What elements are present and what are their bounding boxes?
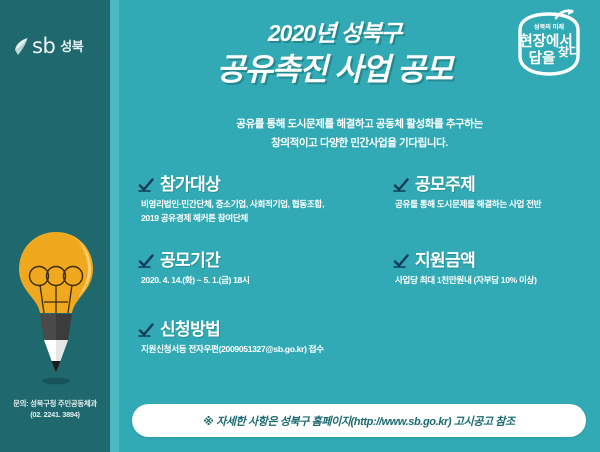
info-item-desc: 비영리법인·민간단체, 중소기업, 사회적기업, 협동조합, 2019 공유경제… <box>138 198 398 226</box>
logo-korean-text: 성북 <box>60 40 83 53</box>
info-item-header: 신청방법 <box>138 321 438 338</box>
info-item-participants: 참가대상 비영리법인·민간단체, 중소기업, 사회적기업, 협동조합, 2019… <box>138 176 398 226</box>
footer-notice-text: ※ 자세한 사항은 성북구 홈페이지(http://www.sb.go.kr) … <box>203 413 514 429</box>
content-grid: 참가대상 비영리법인·민간단체, 중소기업, 사회적기업, 협동조합, 2019… <box>119 176 600 386</box>
footer-notice-banner: ※ 자세한 사항은 성북구 홈페이지(http://www.sb.go.kr) … <box>132 404 586 437</box>
info-item-desc: 사업당 최대 1천만원내 (자부담 10% 이상) <box>385 274 600 288</box>
info-item-header: 참가대상 <box>138 176 398 193</box>
info-item-desc: 지원신청서등 전자우편(2009051327@sb.go.kr) 접수 <box>138 343 438 357</box>
seongbuk-emblem-icon <box>14 37 29 56</box>
contact-line-2: (02. 2241. 3894) <box>0 409 110 420</box>
poster-root: sb 성북 문의: 성북구청 주민공 <box>0 0 600 452</box>
info-item-title: 지원금액 <box>415 252 475 269</box>
info-item-funding: 지원금액 사업당 최대 1천만원내 (자부담 10% 이상) <box>385 252 600 288</box>
info-item-header: 공모기간 <box>138 252 388 269</box>
subtitle-line-2: 창의적이고 다양한 민간사업을 기다립니다. <box>119 134 600 153</box>
check-icon <box>393 178 409 192</box>
info-item-title: 공모기간 <box>160 252 220 269</box>
svg-text:답을: 답을 <box>529 49 556 67</box>
check-icon <box>393 254 409 268</box>
lightbulb-pencil-illustration <box>13 228 99 390</box>
subtitle-line-1: 공유를 통해 도시문제를 해결하고 공동체 활성화를 추구하는 <box>119 115 600 134</box>
seongbuk-future-stamp-icon: 성북의 미래 현장에서 답을 찾다 <box>506 8 592 82</box>
logo-sb-text: sb <box>32 36 55 57</box>
check-icon <box>138 254 154 268</box>
info-item-desc: 공유를 통해 도시문제를 해결하는 사업 전반 <box>385 198 600 212</box>
svg-text:성북의 미래: 성북의 미래 <box>534 23 564 31</box>
contact-line-1: 문의: 성북구청 주민공동체과 <box>0 398 110 409</box>
info-item-header: 지원금액 <box>385 252 600 269</box>
info-item-title: 참가대상 <box>160 176 220 193</box>
info-item-title: 신청방법 <box>160 321 220 338</box>
sidebar-accent-stripe <box>110 0 119 452</box>
info-item-application: 신청방법 지원신청서등 전자우편(2009051327@sb.go.kr) 접수 <box>138 321 438 357</box>
check-icon <box>138 323 154 337</box>
subtitle: 공유를 통해 도시문제를 해결하고 공동체 활성화를 추구하는 창의적이고 다양… <box>119 115 600 154</box>
info-item-topic: 공모주제 공유를 통해 도시문제를 해결하는 사업 전반 <box>385 176 600 212</box>
svg-text:찾다: 찾다 <box>558 44 580 59</box>
contact-info: 문의: 성북구청 주민공동체과 (02. 2241. 3894) <box>0 398 110 421</box>
check-icon <box>138 178 154 192</box>
seongbuk-logo: sb 성북 <box>14 36 83 57</box>
info-item-title: 공모주제 <box>415 176 475 193</box>
info-item-header: 공모주제 <box>385 176 600 193</box>
info-item-desc: 2020. 4. 14.(화) ~ 5. 1.(금) 18시 <box>138 274 388 288</box>
info-item-period: 공모기간 2020. 4. 14.(화) ~ 5. 1.(금) 18시 <box>138 252 388 288</box>
